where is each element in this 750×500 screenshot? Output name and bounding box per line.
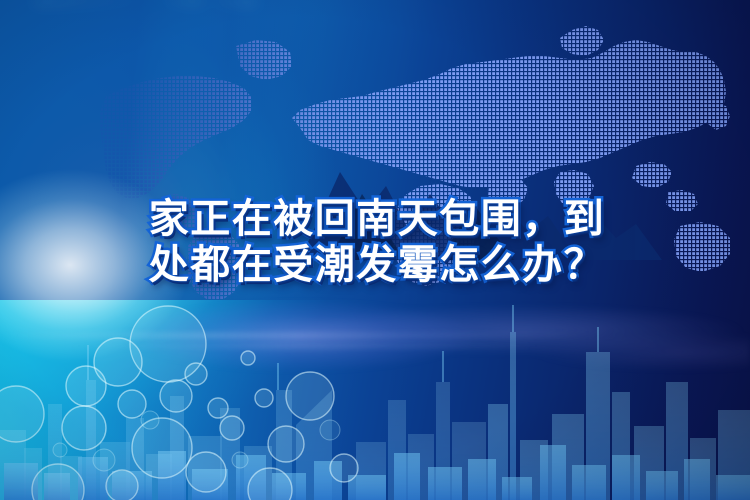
light-rays [0,0,750,500]
banner-image: 家正在被回南天包围，到 处都在受潮发霉怎么办？ [0,0,750,500]
